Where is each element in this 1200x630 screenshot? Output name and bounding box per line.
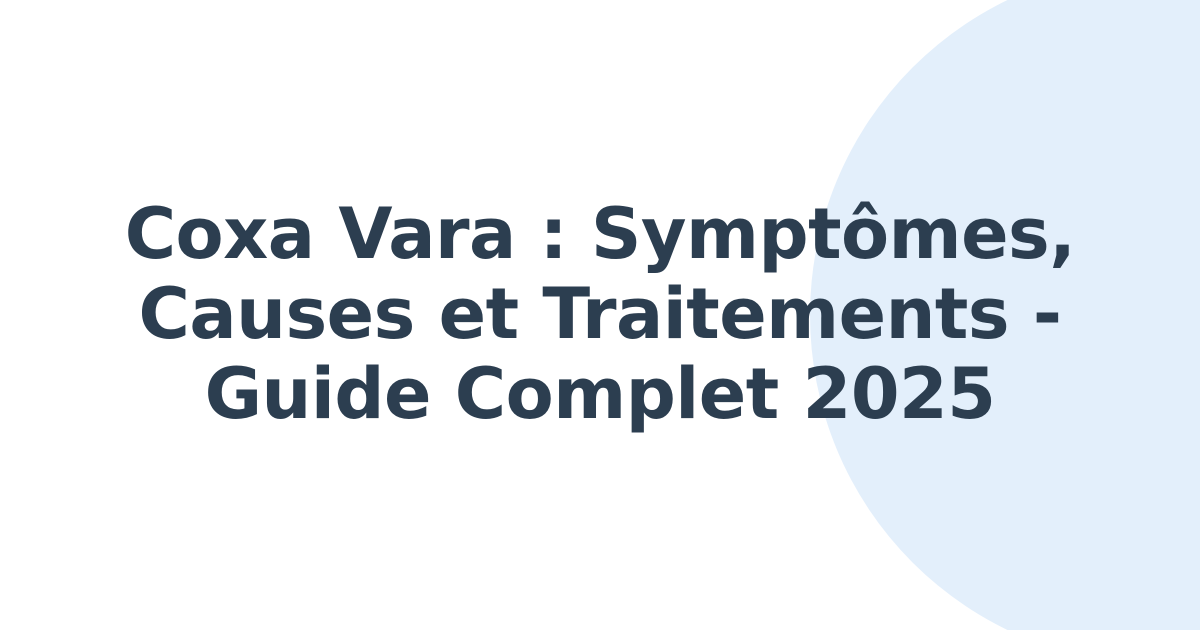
page-title: Coxa Vara : Symptômes, Causes et Traitem… [60, 195, 1140, 434]
title-container: Coxa Vara : Symptômes, Causes et Traitem… [55, 195, 1145, 434]
og-card: Coxa Vara : Symptômes, Causes et Traitem… [0, 0, 1200, 630]
